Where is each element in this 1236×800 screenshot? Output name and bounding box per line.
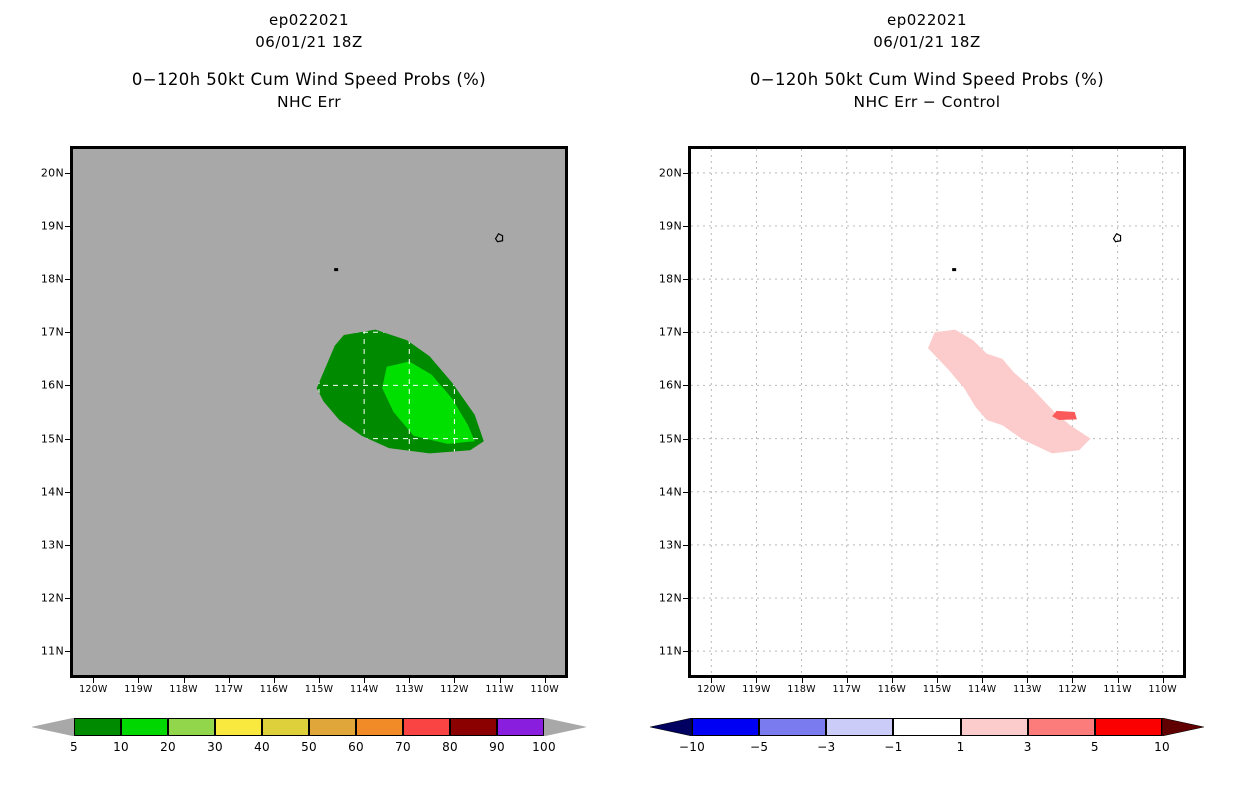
storm-id-label: ep022021 (618, 10, 1236, 32)
colorbar-segment[interactable] (262, 718, 309, 736)
colorbar-tick-label: 100 (532, 740, 556, 754)
colorbar-tick-label: 5 (1091, 740, 1099, 754)
y-axis-tick-mark (683, 492, 689, 493)
x-axis-tick-mark (802, 678, 803, 683)
main-title-label: 0−120h 50kt Cum Wind Speed Probs (%) (618, 68, 1236, 92)
main-title-label: 0−120h 50kt Cum Wind Speed Probs (%) (0, 68, 618, 92)
colorbar-segment[interactable] (497, 718, 544, 736)
colorbar-tick-label: −10 (679, 740, 705, 754)
y-axis-tick-mark (683, 651, 689, 652)
y-axis-tick-label: 18N (636, 273, 682, 286)
sub-title-label: NHC Err (0, 91, 618, 113)
y-axis-tick-mark (65, 173, 71, 174)
y-axis-tick-label: 17N (18, 326, 64, 339)
x-axis-tick-label: 111W (1103, 684, 1131, 695)
colorbar-tick-label: 90 (489, 740, 505, 754)
y-axis-tick-mark (65, 332, 71, 333)
contour-region-1-3 (928, 330, 1091, 454)
y-axis-tick-label: 14N (18, 485, 64, 498)
colorbar-segment[interactable] (692, 718, 759, 736)
x-axis-tick-label: 118W (787, 684, 815, 695)
x-axis-tick-mark (409, 678, 410, 683)
contour-layer (691, 149, 1183, 675)
right-title-block: ep022021 06/01/21 18Z 0−120h 50kt Cum Wi… (618, 10, 1236, 114)
y-axis-tick-label: 18N (18, 273, 64, 286)
x-axis-tick-mark (454, 678, 455, 683)
island-outline-socorro (1114, 234, 1121, 242)
colorbar-tick-label: 80 (442, 740, 458, 754)
panel-nhc-err-minus-control: ep022021 06/01/21 18Z 0−120h 50kt Cum Wi… (618, 0, 1236, 800)
y-axis-tick-label: 20N (636, 166, 682, 179)
y-axis-tick-mark (65, 226, 71, 227)
y-axis-tick-mark (683, 545, 689, 546)
storm-id-label: ep022021 (0, 10, 618, 32)
panel-nhc-err: ep022021 06/01/21 18Z 0−120h 50kt Cum Wi… (0, 0, 618, 800)
colorbar-low-arrow (650, 718, 692, 736)
x-axis-tick-mark (1072, 678, 1073, 683)
x-axis-tick-mark (756, 678, 757, 683)
y-axis-tick-mark (683, 332, 689, 333)
colorbar-tick-label: −5 (750, 740, 768, 754)
x-axis-tick-mark (138, 678, 139, 683)
x-axis-tick-mark (364, 678, 365, 683)
x-axis-tick-mark (847, 678, 848, 683)
colorbar-segment[interactable] (215, 718, 262, 736)
x-axis-tick-mark (93, 678, 94, 683)
x-axis-tick-label: 116W (878, 684, 906, 695)
x-axis-tick-label: 114W (350, 684, 378, 695)
x-axis-tick-label: 119W (742, 684, 770, 695)
x-axis-tick-mark (937, 678, 938, 683)
y-axis-tick-mark (65, 439, 71, 440)
x-axis-tick-mark (1118, 678, 1119, 683)
sub-title-label: NHC Err − Control (618, 91, 1236, 113)
x-axis-tick-label: 115W (305, 684, 333, 695)
x-axis-tick-mark (1163, 678, 1164, 683)
y-axis-tick-mark (65, 492, 71, 493)
y-axis-tick-label: 16N (636, 379, 682, 392)
y-axis-tick-label: 15N (636, 432, 682, 445)
colorbar-segment[interactable] (893, 718, 960, 736)
colorbar-segment[interactable] (1095, 718, 1162, 736)
colorbar-tick-label: −1 (884, 740, 902, 754)
colorbar-tick-label: 40 (254, 740, 270, 754)
y-axis-tick-label: 14N (636, 485, 682, 498)
x-axis-tick-label: 118W (169, 684, 197, 695)
y-axis-tick-label: 16N (18, 379, 64, 392)
colorbar-segment[interactable] (74, 718, 121, 736)
background-fill (73, 149, 565, 675)
colorbar-segment[interactable] (759, 718, 826, 736)
y-axis-tick-mark (683, 385, 689, 386)
colorbar-segment[interactable] (1028, 718, 1095, 736)
x-axis-tick-label: 117W (833, 684, 861, 695)
x-axis-tick-mark (711, 678, 712, 683)
x-axis-tick-mark (892, 678, 893, 683)
map-plot-difference[interactable] (688, 146, 1186, 678)
y-axis-tick-mark (65, 385, 71, 386)
x-axis-tick-label: 115W (923, 684, 951, 695)
colorbar-segment[interactable] (450, 718, 497, 736)
x-axis-tick-label: 113W (395, 684, 423, 695)
y-axis-tick-label: 11N (636, 645, 682, 658)
y-axis-tick-mark (683, 279, 689, 280)
x-axis-tick-mark (319, 678, 320, 683)
colorbar-difference[interactable]: −10−5−3−113510 (618, 716, 1236, 776)
colorbar-tick-label: 10 (1154, 740, 1170, 754)
valid-time-label: 06/01/21 18Z (0, 32, 618, 54)
left-title-block: ep022021 06/01/21 18Z 0−120h 50kt Cum Wi… (0, 10, 618, 114)
x-axis-tick-mark (184, 678, 185, 683)
y-axis-tick-mark (65, 545, 71, 546)
colorbar-segment[interactable] (121, 718, 168, 736)
y-axis-tick-mark (65, 651, 71, 652)
colorbar-tick-label: 5 (70, 740, 78, 754)
y-axis-tick-label: 17N (636, 326, 682, 339)
colorbar-segment[interactable] (961, 718, 1028, 736)
y-axis-tick-label: 19N (636, 220, 682, 233)
colorbar-segment[interactable] (403, 718, 450, 736)
y-axis-tick-label: 11N (18, 645, 64, 658)
x-axis-tick-label: 119W (124, 684, 152, 695)
x-axis-tick-label: 112W (440, 684, 468, 695)
x-axis-tick-label: 120W (79, 684, 107, 695)
y-axis-tick-label: 12N (18, 591, 64, 604)
colorbar-tick-label: 10 (113, 740, 129, 754)
map-plot-nhc-err[interactable] (70, 146, 568, 678)
colorbar-segment[interactable] (356, 718, 403, 736)
x-axis-tick-mark (982, 678, 983, 683)
x-axis-tick-label: 120W (697, 684, 725, 695)
y-axis-tick-label: 13N (636, 538, 682, 551)
x-axis-tick-label: 117W (215, 684, 243, 695)
colorbar-tick-label: 30 (207, 740, 223, 754)
colorbar-segment[interactable] (826, 718, 893, 736)
colorbar-high-arrow (544, 718, 586, 736)
y-axis-tick-label: 15N (18, 432, 64, 445)
x-axis-tick-label: 110W (531, 684, 559, 695)
contour-layer (73, 149, 565, 675)
x-axis-tick-label: 113W (1013, 684, 1041, 695)
x-axis-tick-label: 110W (1149, 684, 1177, 695)
y-axis-tick-mark (683, 598, 689, 599)
colorbar-probability[interactable]: 5102030405060708090100 (0, 716, 618, 776)
x-axis-tick-label: 112W (1058, 684, 1086, 695)
y-axis-tick-mark (65, 279, 71, 280)
y-axis-tick-label: 20N (18, 166, 64, 179)
y-axis-tick-mark (683, 173, 689, 174)
x-axis-tick-mark (229, 678, 230, 683)
colorbar-high-arrow (1162, 718, 1204, 736)
colorbar-tick-label: 3 (1024, 740, 1032, 754)
y-axis-tick-label: 12N (636, 591, 682, 604)
x-axis-tick-label: 111W (485, 684, 513, 695)
y-axis-tick-label: 19N (18, 220, 64, 233)
colorbar-low-arrow (32, 718, 74, 736)
valid-time-label: 06/01/21 18Z (618, 32, 1236, 54)
colorbar-tick-label: 70 (395, 740, 411, 754)
x-axis-tick-mark (1027, 678, 1028, 683)
colorbar-segment[interactable] (309, 718, 356, 736)
x-axis-tick-mark (500, 678, 501, 683)
y-axis-tick-mark (683, 439, 689, 440)
y-axis-tick-label: 13N (18, 538, 64, 551)
x-axis-tick-label: 114W (968, 684, 996, 695)
y-axis-tick-mark (65, 598, 71, 599)
colorbar-tick-label: 20 (160, 740, 176, 754)
x-axis-tick-mark (545, 678, 546, 683)
y-axis-tick-mark (683, 226, 689, 227)
island-marker-small (952, 268, 956, 271)
colorbar-tick-label: 50 (301, 740, 317, 754)
colorbar-tick-label: 60 (348, 740, 364, 754)
colorbar-tick-label: 1 (957, 740, 965, 754)
figure-panels: ep022021 06/01/21 18Z 0−120h 50kt Cum Wi… (0, 0, 1236, 800)
island-marker-small (334, 268, 338, 271)
colorbar-segment[interactable] (168, 718, 215, 736)
colorbar-tick-label: −3 (817, 740, 835, 754)
x-axis-tick-mark (274, 678, 275, 683)
x-axis-tick-label: 116W (260, 684, 288, 695)
